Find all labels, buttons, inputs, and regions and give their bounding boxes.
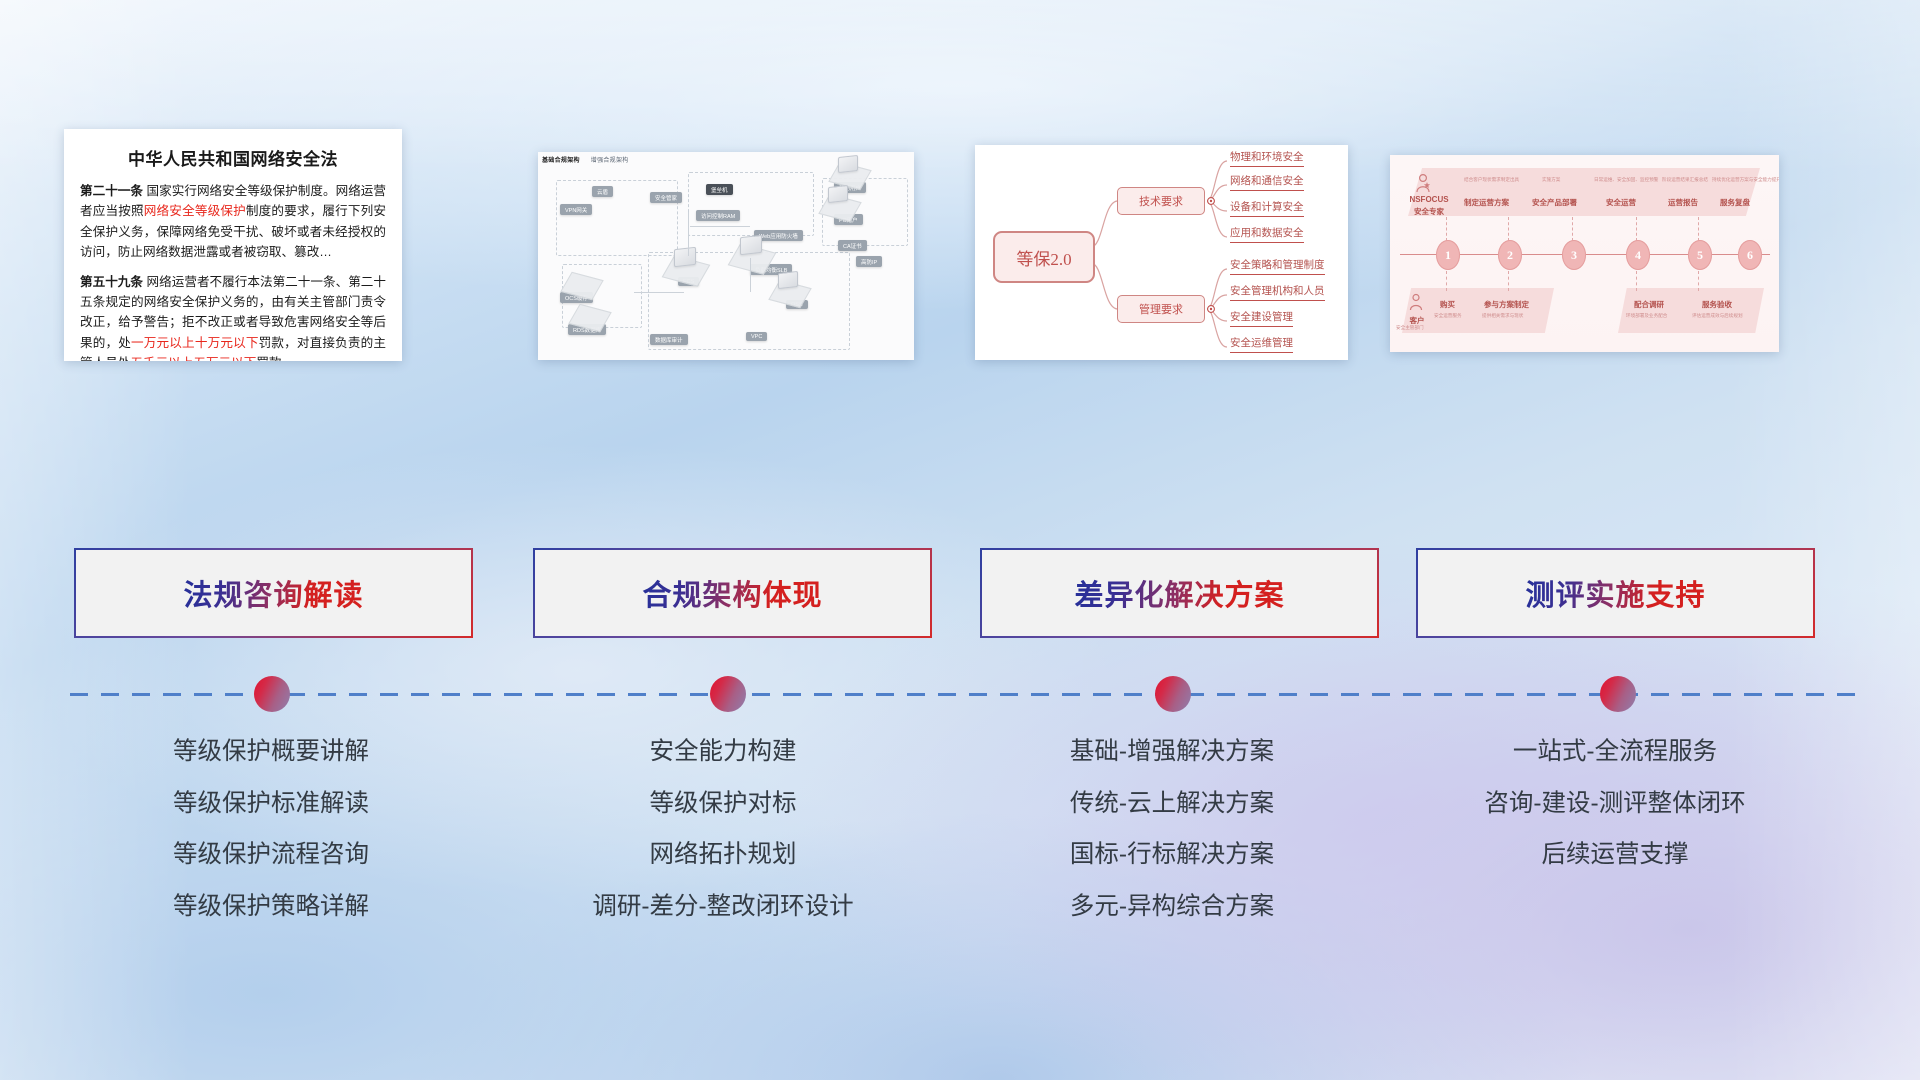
architecture-link-1 (690, 226, 750, 227)
nsfocus-top-sub-4: 阶段运营结果汇报总结 (1662, 177, 1708, 183)
architecture-link-3 (750, 258, 751, 292)
node-slb-icon (740, 236, 760, 252)
card-law-screenshot: 中华人民共和国网络安全法 第二十一条 国家实行网络安全等级保护制度。网络运营者应… (64, 129, 402, 361)
architecture-tabs: 基础合规架构 增强合规架构 (542, 155, 638, 164)
mindmap-root-node[interactable]: 等保2.0 (993, 231, 1095, 283)
nsfocus-dash-7 (1508, 271, 1509, 291)
list-item: 国标-行标解决方案 (957, 843, 1387, 868)
nsfocus-top-sub-1: 结合客户现状需求制定出具 (1464, 177, 1519, 183)
list-item: 传统-云上解决方案 (957, 792, 1387, 817)
nsfocus-bottom-title-1: 购买 (1440, 299, 1455, 310)
law-document: 中华人民共和国网络安全法 第二十一条 国家实行网络安全等级保护制度。网络运营者应… (64, 129, 402, 361)
law-article-21: 第二十一条 国家实行网络安全等级保护制度。网络运营者应当按照网络安全等级保护制度… (80, 181, 386, 263)
mindmap-leaf-device-compute[interactable]: 设备和计算安全 (1230, 199, 1304, 217)
expert-person-icon (1414, 173, 1432, 193)
nsfocus-dash-8 (1636, 271, 1637, 291)
list-item: 网络拓扑规划 (508, 843, 938, 868)
nsfocus-bottom-sub-2: 提供相关需求与现状 (1482, 313, 1523, 319)
headline-label-3: 差异化解决方案 (1074, 572, 1284, 614)
mindmap-diagram: 等保2.0 技术要求 管理要求 物理和环境安全 网络和通信安全 设备和计算安全 … (975, 145, 1348, 360)
timeline-dot-4[interactable] (1600, 676, 1636, 712)
nsfocus-step-1[interactable]: 1 (1436, 240, 1460, 270)
nsfocus-dash-5 (1698, 217, 1699, 241)
nsfocus-step-6[interactable]: 6 (1738, 240, 1762, 270)
nsfocus-top-title-3: 安全运营 (1606, 197, 1636, 208)
law-article-59-label: 第五十九条 (80, 275, 143, 289)
node-pc-icon (828, 186, 846, 200)
nsfocus-bottom-sub-3: 环境部署及业务配合 (1626, 313, 1667, 319)
list-item: 咨询-建设-测评整体闭环 (1400, 792, 1830, 817)
node-ecs-icon (674, 248, 694, 264)
nsfocus-bottom-band-a (1402, 288, 1554, 333)
label-db-audit: 数据库审计 (650, 334, 688, 345)
card-nsfocus-screenshot: NSFOCUS 安全专家 结合客户现状需求制定出具 制定运营方案 实施方案 安全… (1390, 155, 1779, 352)
list-item: 多元-异构综合方案 (957, 895, 1387, 920)
law-article-21-highlight: 网络安全等级保护 (144, 204, 246, 218)
mindmap-branch-technical[interactable]: 技术要求 (1117, 187, 1205, 215)
nsfocus-top-title-1: 制定运营方案 (1464, 197, 1509, 208)
nsfocus-brand-sub: 安全专家 (1406, 206, 1452, 217)
card-mindmap-screenshot: 等保2.0 技术要求 管理要求 物理和环境安全 网络和通信安全 设备和计算安全 … (975, 145, 1348, 360)
nsfocus-bottom-sub-1: 安全运营服务 (1434, 313, 1462, 319)
headline-box-2[interactable]: 合规架构体现 (533, 548, 932, 638)
nsfocus-dash-1 (1446, 217, 1447, 241)
list-item: 安全能力构建 (508, 740, 938, 765)
nsfocus-top-sub-5: 持续优化运营方案与安全能力提升 (1712, 177, 1779, 183)
nsfocus-dash-6 (1446, 271, 1447, 291)
node-mobile-icon (838, 156, 856, 170)
nsfocus-step-3[interactable]: 3 (1562, 240, 1586, 270)
timeline-dot-3[interactable] (1155, 676, 1191, 712)
law-article-59-highlight-1: 一万元以上十万元以下 (131, 336, 259, 350)
headline-box-1[interactable]: 法规咨询解读 (74, 548, 473, 638)
headline-label-2: 合规架构体现 (642, 572, 822, 614)
label-security-guardian: 安全管家 (650, 192, 682, 203)
list-column-2: 安全能力构建 等级保护对标 网络拓扑规划 调研-差分-整改闭环设计 (508, 740, 938, 946)
mindmap-leaf-policy-system[interactable]: 安全策略和管理制度 (1230, 257, 1325, 275)
mindmap-leaf-operations[interactable]: 安全运维管理 (1230, 335, 1293, 353)
nsfocus-brand: NSFOCUS (1406, 195, 1452, 204)
nsfocus-top-title-2: 安全产品部署 (1532, 197, 1577, 208)
timeline-dot-1[interactable] (254, 676, 290, 712)
architecture-diagram: 基础合规架构 增强合规架构 堡垒机 VPN网关 安全管家 云盾 ECS 负载均衡… (538, 152, 914, 360)
customer-person-icon (1408, 293, 1424, 311)
architecture-link-4 (634, 292, 684, 293)
nsfocus-customer-sub: 安全主管部门 (1396, 325, 1424, 331)
mindmap-leaf-org-personnel[interactable]: 安全管理机构和人员 (1230, 283, 1325, 301)
timeline-dashed-line (70, 693, 1860, 696)
tab-enhanced-compliance[interactable]: 增强合规架构 (591, 158, 629, 164)
law-title: 中华人民共和国网络安全法 (80, 145, 386, 170)
node-oss-icon (778, 272, 796, 286)
nsfocus-timeline-diagram: NSFOCUS 安全专家 结合客户现状需求制定出具 制定运营方案 实施方案 安全… (1390, 155, 1779, 352)
label-ca-cert: CA证书 (838, 240, 867, 251)
label-anti-ddos: 高防IP (856, 256, 882, 267)
nsfocus-bottom-title-4: 服务验收 (1702, 299, 1732, 310)
law-article-59: 第五十九条 网络运营者不履行本法第二十一条、第二十五条规定的网络安全保护义务的，… (80, 272, 386, 361)
list-item: 等级保护标准解读 (56, 792, 486, 817)
list-item: 等级保护流程咨询 (56, 843, 486, 868)
list-item: 等级保护对标 (508, 792, 938, 817)
list-item: 调研-差分-整改闭环设计 (508, 895, 938, 920)
nsfocus-step-2[interactable]: 2 (1498, 240, 1522, 270)
list-column-1: 等级保护概要讲解 等级保护标准解读 等级保护流程咨询 等级保护策略详解 (56, 740, 486, 946)
list-item: 等级保护策略详解 (56, 895, 486, 920)
nsfocus-dash-2 (1508, 217, 1509, 241)
nsfocus-dash-4 (1636, 217, 1637, 241)
label-vpc: VPC (746, 332, 767, 341)
list-column-3: 基础-增强解决方案 传统-云上解决方案 国标-行标解决方案 多元-异构综合方案 (957, 740, 1387, 946)
nsfocus-dash-3 (1572, 217, 1573, 241)
label-vpn-gateway: VPN网关 (560, 204, 592, 215)
nsfocus-bottom-sub-4: 评估运营成效与后续规划 (1692, 313, 1743, 319)
label-bastion: 堡垒机 (706, 184, 733, 195)
label-ram: 访问控制RAM (696, 210, 740, 221)
mindmap-leaf-construction[interactable]: 安全建设管理 (1230, 309, 1293, 327)
timeline-dot-2[interactable] (710, 676, 746, 712)
list-item: 基础-增强解决方案 (957, 740, 1387, 765)
list-column-4: 一站式-全流程服务 咨询-建设-测评整体闭环 后续运营支撑 (1400, 740, 1830, 895)
tab-basic-compliance[interactable]: 基础合规架构 (542, 158, 580, 164)
nsfocus-top-sub-3: 日常运维、安全加固、监控预警 (1594, 177, 1658, 183)
architecture-link-2 (688, 212, 689, 256)
nsfocus-top-band (1408, 168, 1760, 216)
card-architecture-screenshot: 基础合规架构 增强合规架构 堡垒机 VPN网关 安全管家 云盾 ECS 负载均衡… (538, 152, 914, 360)
nsfocus-bottom-title-3: 配合调研 (1634, 299, 1664, 310)
law-article-59-highlight-2: 五千元以上五万元以下 (130, 356, 256, 361)
nsfocus-bottom-title-2: 参与方案制定 (1484, 299, 1529, 310)
nsfocus-bottom-band-b (1618, 288, 1764, 333)
headline-box-3[interactable]: 差异化解决方案 (980, 548, 1379, 638)
nsfocus-step-5[interactable]: 5 (1688, 240, 1712, 270)
list-item: 一站式-全流程服务 (1400, 740, 1830, 765)
list-item: 等级保护概要讲解 (56, 740, 486, 765)
headline-box-4[interactable]: 测评实施支持 (1416, 548, 1815, 638)
mindmap-leaf-network-comm[interactable]: 网络和通信安全 (1230, 173, 1304, 191)
nsfocus-top-title-5: 服务复盘 (1720, 197, 1750, 208)
label-cloud-shield: 云盾 (592, 186, 613, 197)
nsfocus-step-4[interactable]: 4 (1626, 240, 1650, 270)
mindmap-leaf-app-data[interactable]: 应用和数据安全 (1230, 225, 1304, 243)
headline-label-1: 法规咨询解读 (183, 572, 363, 614)
nsfocus-top-sub-2: 实施方案 (1542, 177, 1560, 183)
nsfocus-dash-9 (1698, 271, 1699, 291)
headline-label-4: 测评实施支持 (1525, 572, 1705, 614)
law-article-59-text-end: 罚款。 (256, 356, 294, 361)
mindmap-branch-management[interactable]: 管理要求 (1117, 295, 1205, 323)
mindmap-leaf-physical-env[interactable]: 物理和环境安全 (1230, 149, 1304, 167)
list-item: 后续运营支撑 (1400, 843, 1830, 868)
law-article-21-label: 第二十一条 (80, 184, 143, 198)
nsfocus-top-title-4: 运营报告 (1668, 197, 1698, 208)
